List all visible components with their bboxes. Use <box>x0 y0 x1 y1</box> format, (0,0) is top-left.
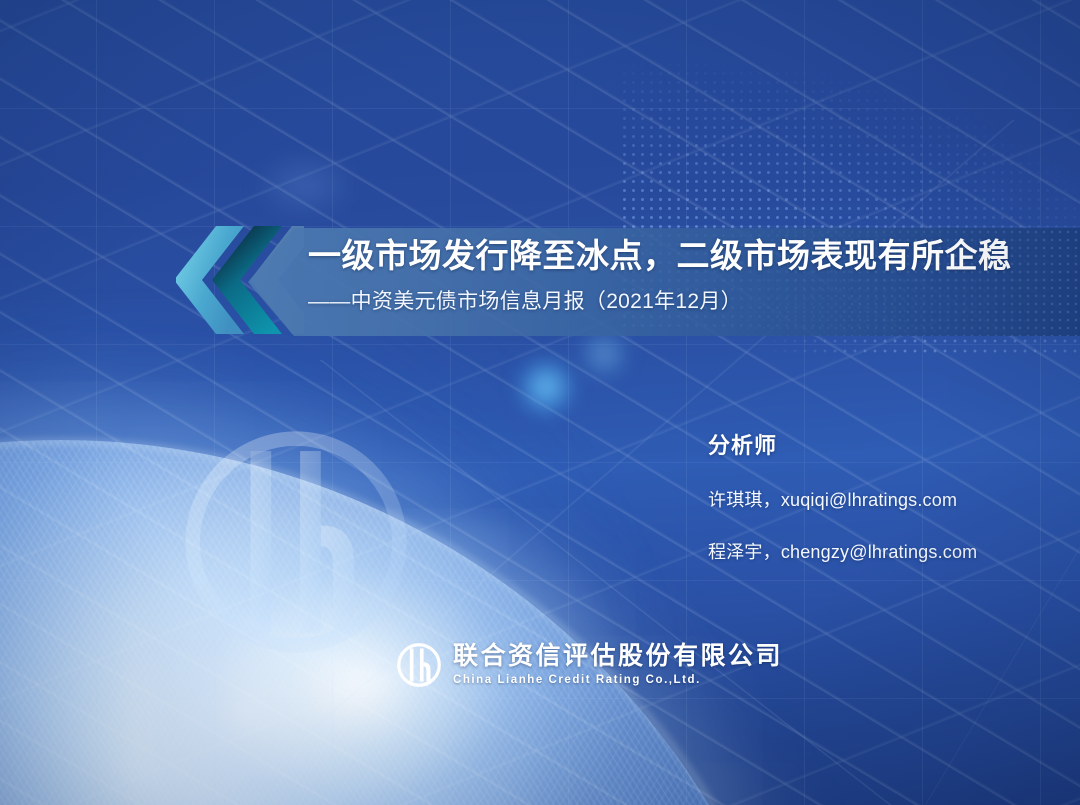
analyst-entry: 许琪琪，xuqiqi@lhratings.com <box>708 486 1068 512</box>
analyst-block: 分析师 许琪琪，xuqiqi@lhratings.com 程泽宇，chengzy… <box>708 428 1068 564</box>
company-name-cn: 联合资信评估股份有限公司 <box>453 644 783 669</box>
company-name-en: China Lianhe Credit Rating Co.,Ltd. <box>453 675 783 687</box>
analyst-email: xuqiqi@lhratings.com <box>781 490 957 510</box>
analyst-entry: 程泽宇，chengzy@lhratings.com <box>708 538 1068 564</box>
analyst-name: 程泽宇， <box>708 542 781 562</box>
title-banner <box>248 228 1080 336</box>
company-logo: 联合资信评估股份有限公司 China Lianhe Credit Rating … <box>396 642 783 688</box>
bokeh-orb-faint <box>250 150 360 220</box>
banner-dot-texture <box>248 228 1080 336</box>
lh-circle-logo-icon <box>396 642 442 688</box>
bokeh-orb-secondary <box>578 330 630 378</box>
analyst-name: 许琪琪， <box>708 490 781 510</box>
company-logo-text: 联合资信评估股份有限公司 China Lianhe Credit Rating … <box>453 644 783 687</box>
lh-watermark <box>172 418 420 666</box>
presentation-cover-slide: 一级市场发行降至冰点，二级市场表现有所企稳 ——中资美元债市场信息月报（2021… <box>0 0 1080 805</box>
bokeh-orb <box>515 358 577 416</box>
analyst-heading: 分析师 <box>708 428 1068 460</box>
analyst-email: chengzy@lhratings.com <box>781 542 978 562</box>
